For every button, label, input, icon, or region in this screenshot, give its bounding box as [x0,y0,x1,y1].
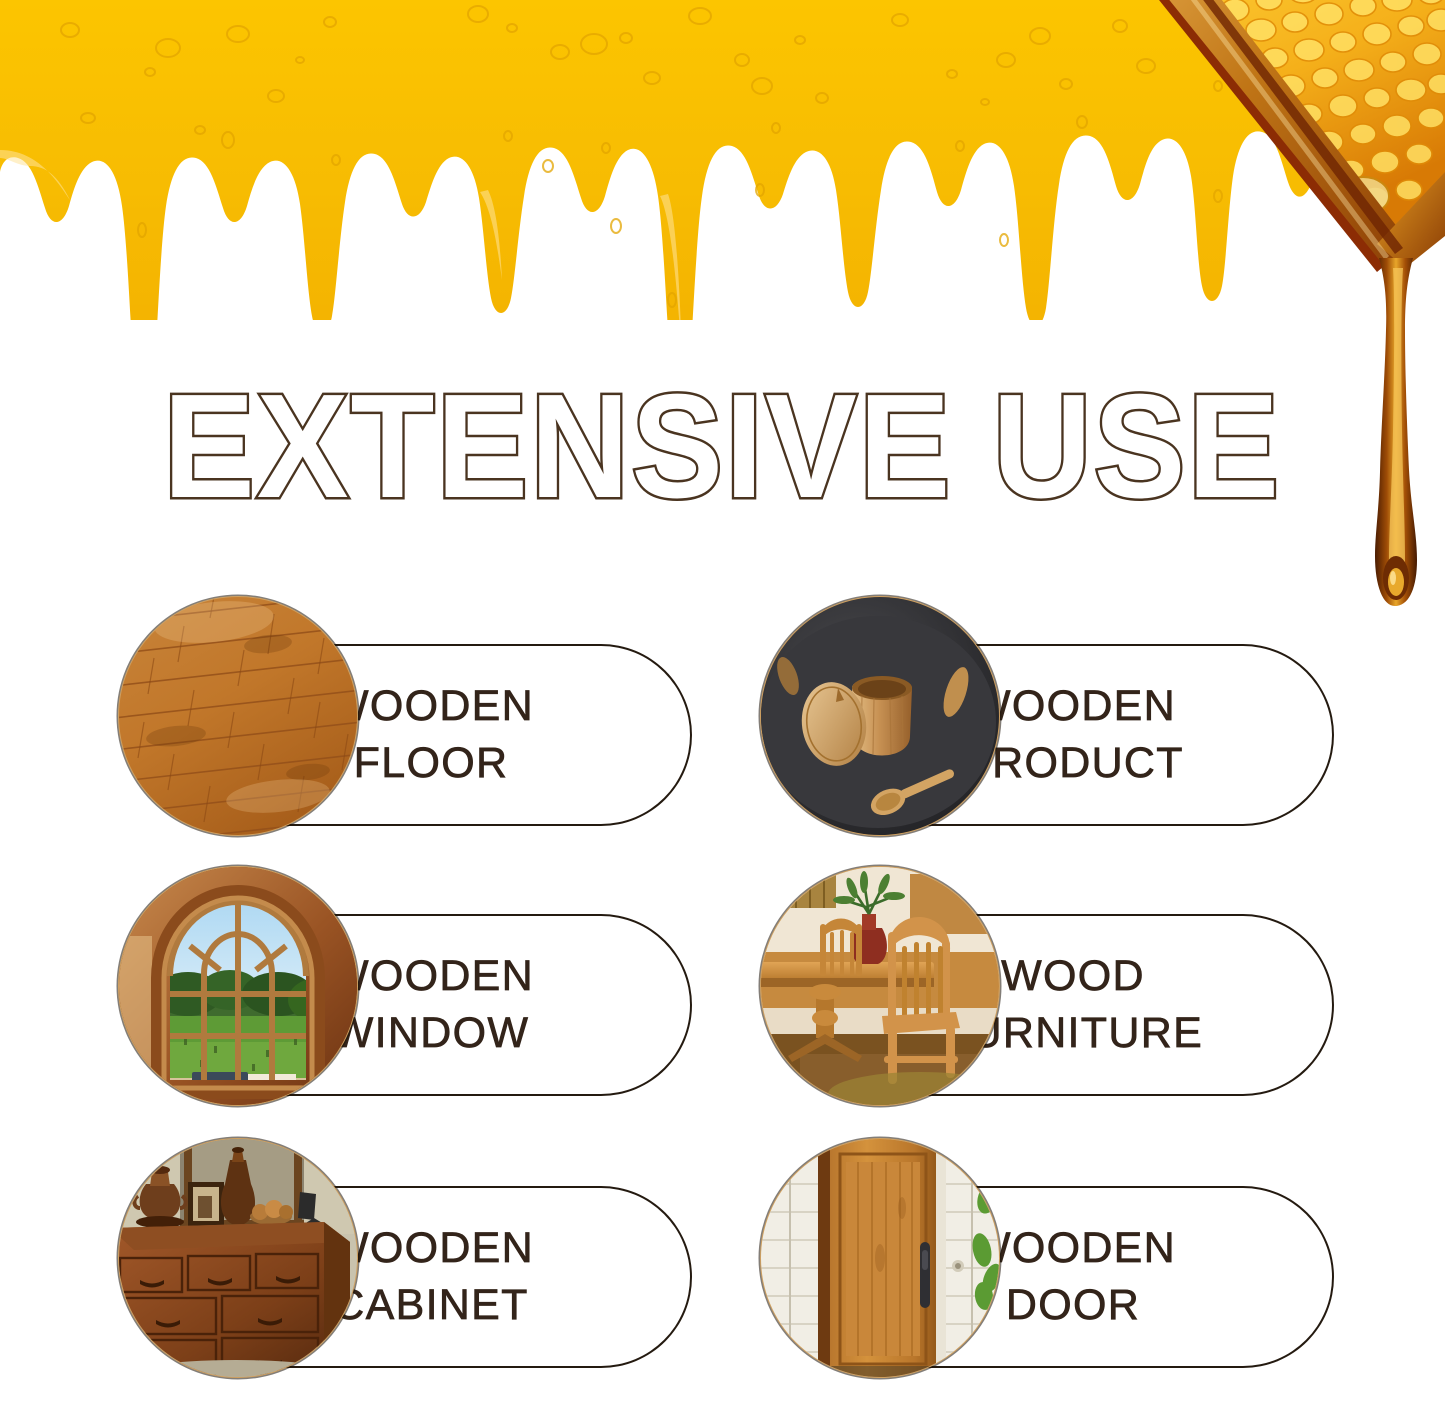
use-case-label: WOODEN FLOOR [320,678,604,792]
wooden-door-illustration [760,1138,1000,1378]
use-case-wooden-product[interactable]: WOODEN PRODUCT [760,596,1335,836]
wood-furniture-illustration [760,866,1000,1106]
use-case-label: WOODEN WINDOW [320,948,604,1062]
use-case-wooden-door[interactable]: WOODEN DOOR [760,1138,1335,1378]
wooden-floor-photo [118,596,358,836]
wood-furniture-photo [760,866,1000,1106]
wooden-floor-illustration [118,596,358,836]
wooden-cabinet-photo [118,1138,358,1378]
honeycomb-frame-image [985,0,1445,640]
use-case-wooden-cabinet[interactable]: WOODEN CABINET [118,1138,693,1378]
wooden-window-illustration [118,866,358,1106]
page-title-wrap: EXTENSIVE USE [0,372,1445,522]
page-title: EXTENSIVE USE [164,372,1282,522]
use-case-label: WOODEN DOOR [962,1220,1246,1334]
poster-root: EXTENSIVE USE WOODEN FLOOR [0,0,1445,1403]
wooden-product-illustration [760,596,1000,836]
use-cases-grid: WOODEN FLOOR [0,592,1445,1402]
wooden-door-photo [760,1138,1000,1378]
use-case-label: WOODEN CABINET [320,1220,604,1334]
honey-drip-graphic [0,0,1445,320]
use-case-wooden-window[interactable]: WOODEN WINDOW [118,866,693,1106]
wooden-cabinet-illustration [118,1138,358,1378]
honey-drip-banner [0,0,1445,320]
honeycomb-graphic [985,0,1445,640]
use-case-wooden-floor[interactable]: WOODEN FLOOR [118,596,693,836]
use-case-wood-furniture[interactable]: WOOD FURNITURE [760,866,1335,1106]
use-case-label: WOODEN PRODUCT [954,678,1254,792]
wooden-product-photo [760,596,1000,836]
wooden-window-photo [118,866,358,1106]
